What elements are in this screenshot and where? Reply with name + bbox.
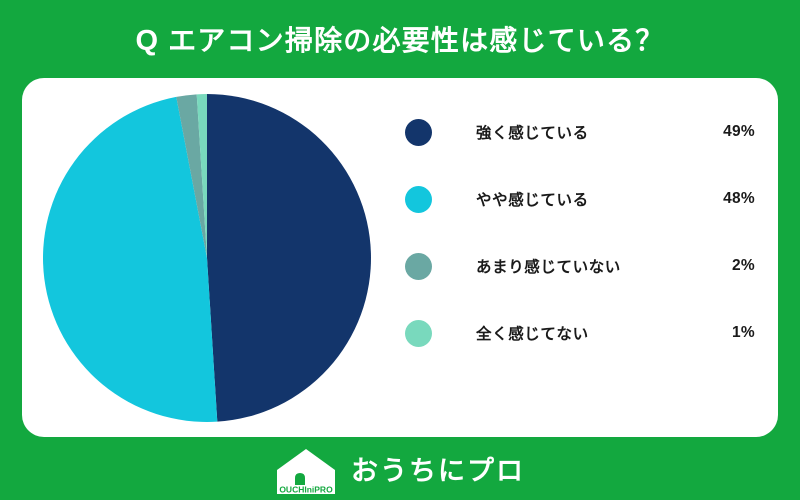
chart-legend: 強く感じている 49% やや感じている 48% あまり感じていない 2% 全く感…	[405, 118, 755, 347]
legend-item-somewhat[interactable]: やや感じている 48%	[405, 185, 755, 213]
house-icon: OUCHIniPRO	[275, 448, 337, 496]
legend-value-somewhat: 48%	[723, 190, 755, 208]
legend-value-strongly: 49%	[723, 123, 755, 141]
legend-value-not-at-all: 1%	[732, 324, 755, 342]
brand-footer: OUCHIniPRO おうちにプロ	[0, 443, 800, 500]
legend-label-not-at-all: 全く感じてない	[476, 322, 589, 344]
pie-slice-0[interactable]	[207, 94, 371, 422]
page-title: Q エアコン掃除の必要性は感じている？	[0, 18, 800, 64]
question-title: エアコン掃除の必要性は感じている？	[168, 27, 664, 55]
legend-swatch-somewhat	[405, 186, 432, 213]
legend-item-strongly[interactable]: 強く感じている 49%	[405, 118, 755, 146]
pie-chart	[42, 93, 372, 423]
slide-canvas: Q エアコン掃除の必要性は感じている？ 強く感じている 49% やや感じている …	[0, 0, 800, 500]
chart-card: 強く感じている 49% やや感じている 48% あまり感じていない 2% 全く感…	[22, 78, 778, 437]
logo-mark-text: OUCHIniPRO	[279, 484, 333, 494]
brand-wordmark: おうちにプロ	[351, 458, 525, 485]
legend-label-not-much: あまり感じていない	[476, 255, 621, 277]
pie-chart-svg	[42, 93, 372, 423]
legend-swatch-not-much	[405, 253, 432, 280]
legend-item-not-much[interactable]: あまり感じていない 2%	[405, 252, 755, 280]
legend-item-not-at-all[interactable]: 全く感じてない 1%	[405, 319, 755, 347]
legend-label-strongly: 強く感じている	[476, 121, 589, 143]
legend-swatch-not-at-all	[405, 320, 432, 347]
legend-swatch-strongly	[405, 119, 432, 146]
question-prefix: Q	[136, 27, 159, 56]
pie-slice-group	[43, 94, 371, 422]
legend-value-not-much: 2%	[732, 257, 755, 275]
legend-label-somewhat: やや感じている	[476, 188, 589, 210]
